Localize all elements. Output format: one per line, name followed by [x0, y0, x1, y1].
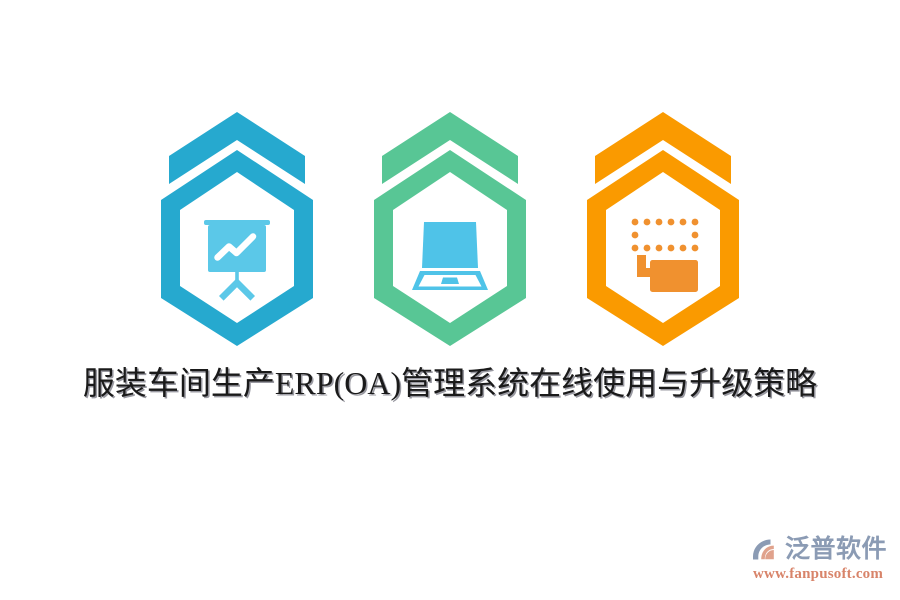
laptop-icon: [412, 222, 488, 290]
watermark-url: www.fanpusoft.com: [752, 566, 892, 583]
selection-badge-chevron-cap: [595, 112, 731, 184]
badge-row: [0, 108, 900, 348]
selection-badge-hexagon-outline: [587, 150, 739, 346]
selection-transfer-icon: [632, 219, 699, 292]
poster-canvas: 服装车间生产ERP(OA)管理系统在线使用与升级策略 泛普软件 www.fanp…: [0, 0, 900, 600]
laptop-badge: [366, 108, 534, 348]
fanpu-swoosh-logo-icon: [752, 536, 782, 562]
presentation-chart-icon: [204, 220, 270, 301]
page-title-wrap: 服装车间生产ERP(OA)管理系统在线使用与升级策略: [0, 360, 900, 406]
analytics-badge-chevron-cap: [169, 112, 305, 184]
watermark-brand-name: 泛普软件: [785, 535, 887, 563]
watermark-brand-row: 泛普软件: [752, 532, 892, 566]
watermark: 泛普软件 www.fanpusoft.com: [752, 532, 892, 588]
page-title: 服装车间生产ERP(OA)管理系统在线使用与升级策略: [83, 360, 817, 406]
laptop-badge-chevron-cap: [382, 112, 518, 184]
analytics-badge: [153, 108, 321, 348]
selection-badge: [579, 108, 747, 348]
